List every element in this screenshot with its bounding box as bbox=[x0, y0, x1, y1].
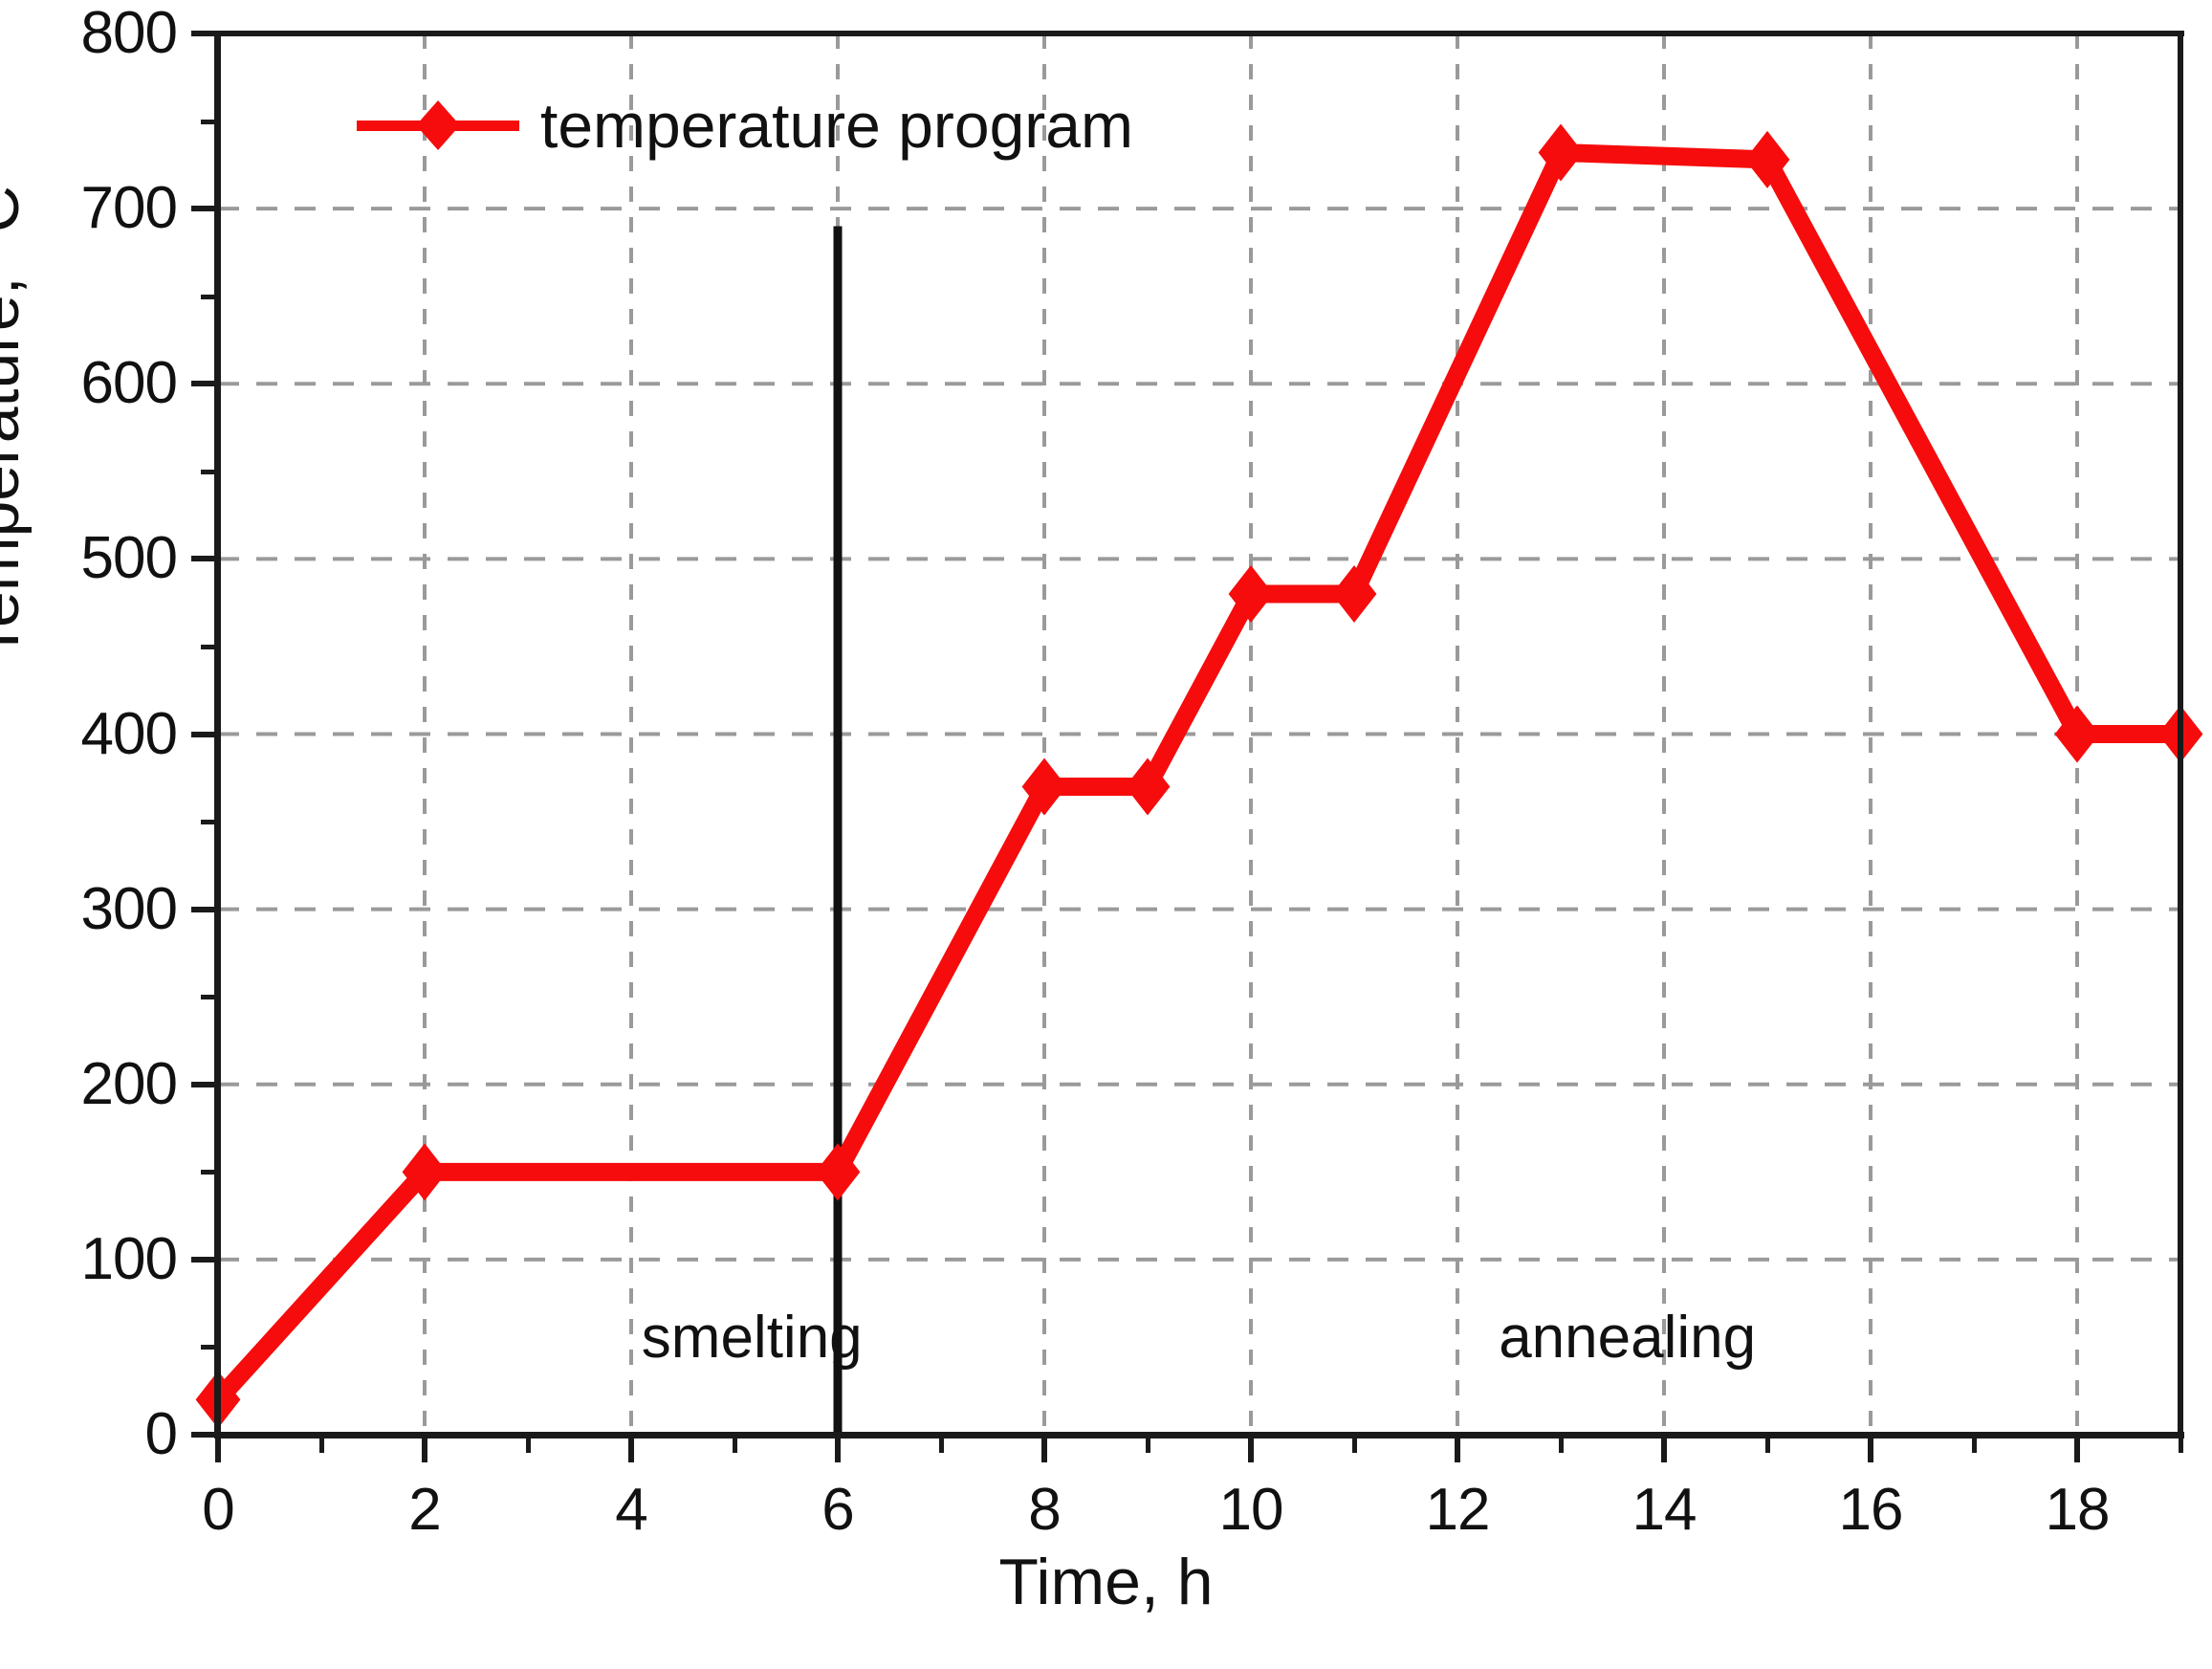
x-minor-tick-17 bbox=[1972, 1438, 1977, 1453]
x-minor-tick-7 bbox=[939, 1438, 944, 1453]
chart-figure: 0100200300400500600700800 02468101214161… bbox=[0, 0, 2212, 1669]
x-minor-tick-13 bbox=[1559, 1438, 1564, 1453]
x-tick-label-10: 10 bbox=[1194, 1481, 1308, 1540]
series-markers bbox=[196, 124, 2203, 1429]
y-tick-200 bbox=[191, 1082, 216, 1087]
y-minor-tick-550 bbox=[201, 470, 216, 474]
x-tick-14 bbox=[1661, 1438, 1667, 1462]
y-tick-label-600: 600 bbox=[81, 354, 177, 413]
y-minor-tick-50 bbox=[201, 1345, 216, 1350]
y-tick-300 bbox=[191, 907, 216, 912]
y-tick-500 bbox=[191, 556, 216, 561]
y-minor-tick-350 bbox=[201, 820, 216, 824]
y-tick-700 bbox=[191, 206, 216, 211]
y-minor-tick-250 bbox=[201, 995, 216, 999]
x-minor-tick-19 bbox=[2179, 1438, 2183, 1453]
y-tick-600 bbox=[191, 381, 216, 386]
y-minor-tick-750 bbox=[201, 120, 216, 124]
diamond-marker-icon bbox=[416, 100, 460, 150]
plot-svg bbox=[218, 33, 2180, 1435]
x-tick-label-14: 14 bbox=[1607, 1481, 1721, 1540]
x-tick-2 bbox=[422, 1438, 427, 1462]
y-tick-label-300: 300 bbox=[81, 880, 177, 939]
x-tick-label-4: 4 bbox=[574, 1481, 689, 1540]
x-tick-10 bbox=[1248, 1438, 1254, 1462]
y-tick-100 bbox=[191, 1257, 216, 1263]
x-tick-label-0: 0 bbox=[161, 1481, 275, 1540]
y-tick-400 bbox=[191, 732, 216, 737]
y-minor-tick-150 bbox=[201, 1170, 216, 1175]
x-minor-tick-11 bbox=[1352, 1438, 1357, 1453]
y-tick-label-500: 500 bbox=[81, 529, 177, 588]
x-tick-18 bbox=[2074, 1438, 2080, 1462]
x-tick-label-6: 6 bbox=[780, 1481, 895, 1540]
plot-area bbox=[218, 33, 2180, 1435]
y-axis-title: Temperature, °C bbox=[0, 124, 29, 660]
x-tick-4 bbox=[628, 1438, 634, 1462]
x-tick-16 bbox=[1868, 1438, 1873, 1462]
y-tick-label-400: 400 bbox=[81, 705, 177, 764]
x-minor-tick-15 bbox=[1765, 1438, 1770, 1453]
y-tick-800 bbox=[191, 31, 216, 36]
x-tick-12 bbox=[1455, 1438, 1460, 1462]
plot-frame-right bbox=[2178, 31, 2183, 1438]
x-tick-0 bbox=[215, 1438, 221, 1462]
x-minor-tick-5 bbox=[733, 1438, 737, 1453]
y-tick-label-0: 0 bbox=[145, 1405, 177, 1464]
x-tick-label-16: 16 bbox=[1813, 1481, 1928, 1540]
x-tick-label-12: 12 bbox=[1400, 1481, 1515, 1540]
legend-label-temperature-program: temperature program bbox=[540, 94, 1133, 157]
x-tick-label-2: 2 bbox=[367, 1481, 482, 1540]
series-temperature-program bbox=[218, 153, 2180, 1400]
y-tick-label-800: 800 bbox=[81, 4, 177, 63]
y-tick-label-700: 700 bbox=[81, 179, 177, 238]
x-tick-label-18: 18 bbox=[2020, 1481, 2135, 1540]
y-minor-tick-650 bbox=[201, 295, 216, 299]
y-tick-label-100: 100 bbox=[81, 1230, 177, 1289]
y-minor-tick-450 bbox=[201, 645, 216, 649]
x-minor-tick-1 bbox=[319, 1438, 324, 1453]
plot-frame-top bbox=[214, 31, 2184, 36]
chart-legend: temperature program bbox=[357, 94, 1133, 157]
x-minor-tick-9 bbox=[1146, 1438, 1150, 1453]
annotation-smelting: smelting bbox=[642, 1308, 863, 1368]
x-minor-tick-3 bbox=[526, 1438, 531, 1453]
x-axis-line bbox=[214, 1432, 2184, 1438]
y-tick-0 bbox=[191, 1432, 216, 1438]
x-axis-title: Time, h bbox=[0, 1549, 2212, 1614]
legend-swatch-temperature-program bbox=[357, 111, 519, 140]
y-tick-label-200: 200 bbox=[81, 1055, 177, 1114]
annotation-annealing: annealing bbox=[1499, 1308, 1756, 1368]
x-tick-label-8: 8 bbox=[987, 1481, 1102, 1540]
x-tick-6 bbox=[835, 1438, 841, 1462]
x-tick-8 bbox=[1041, 1438, 1047, 1462]
